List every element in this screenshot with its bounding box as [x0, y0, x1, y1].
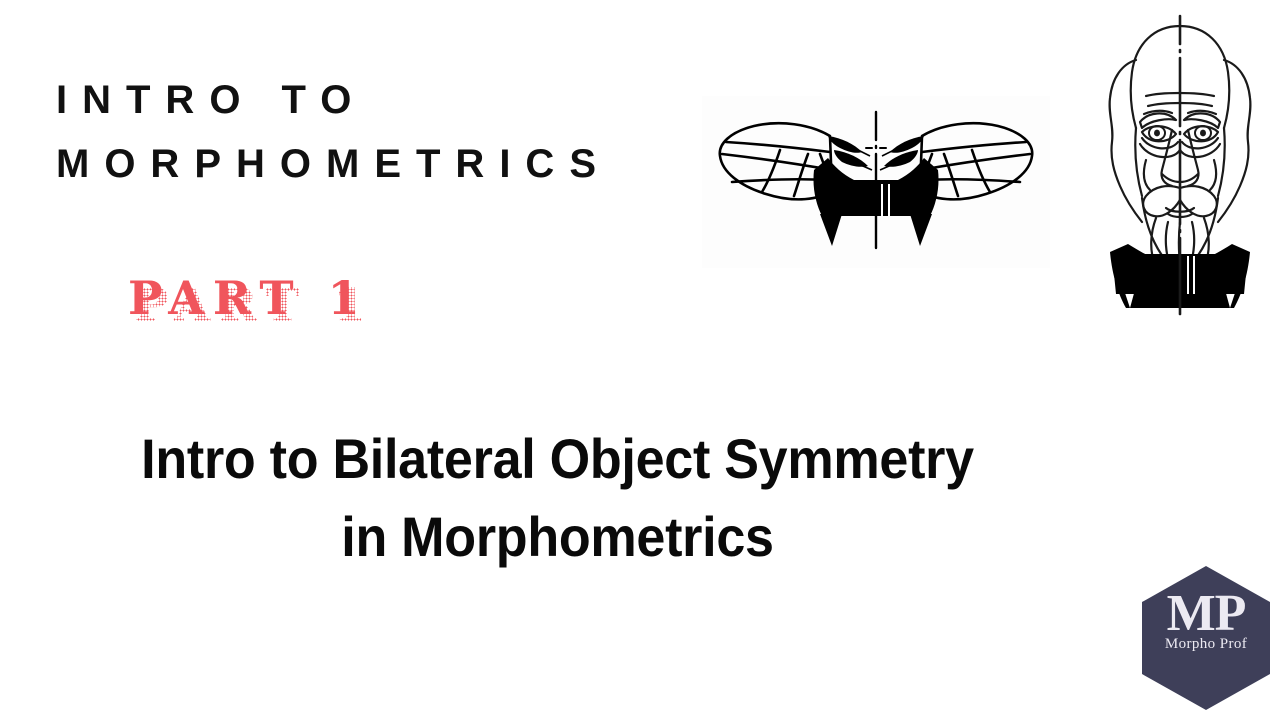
- page-title: Intro to Bilateral Object Symmetry in Mo…: [76, 420, 1039, 576]
- hexagon-shape: [1142, 566, 1270, 710]
- kicker-line-1: INTRO TO: [56, 68, 696, 132]
- fly-wings-illustration: [702, 96, 1050, 268]
- morpho-prof-logo: MP Morpho Prof: [1134, 562, 1278, 714]
- part-badge: PART 1 PART 1: [128, 272, 369, 324]
- darwin-face-illustration: [1084, 2, 1276, 320]
- page-title-line-1: Intro to Bilateral Object Symmetry: [76, 420, 1039, 498]
- kicker-heading: INTRO TO MORPHOMETRICS: [56, 68, 696, 196]
- part-badge-label: PART 1: [128, 271, 369, 325]
- page-title-line-2: in Morphometrics: [76, 498, 1039, 576]
- slide-canvas: INTRO TO MORPHOMETRICS PART 1 PART 1 Int…: [0, 0, 1280, 720]
- kicker-line-2: MORPHOMETRICS: [56, 132, 696, 196]
